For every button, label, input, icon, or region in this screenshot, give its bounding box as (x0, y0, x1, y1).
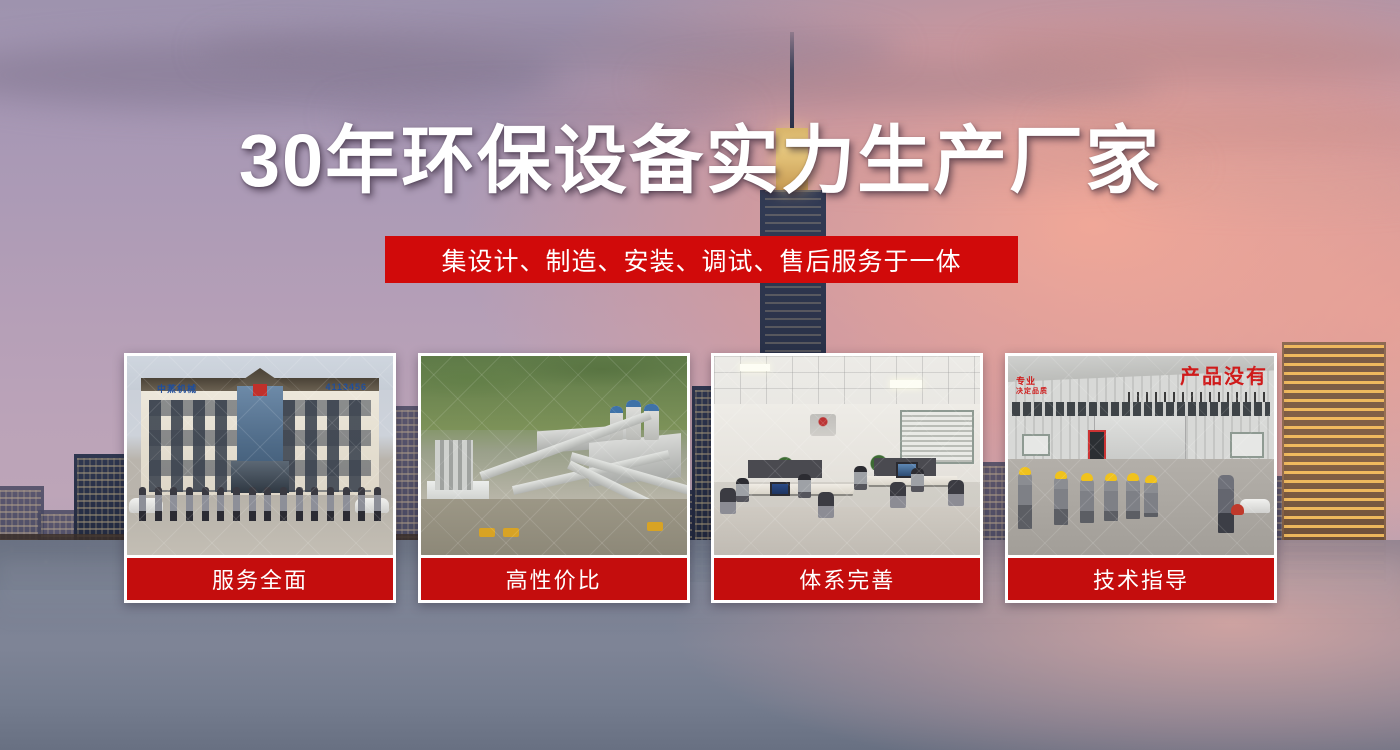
factory-wall-slogan: 产品没有 (1180, 360, 1268, 389)
hero-banner: 30年环保设备实力生产厂家 集设计、制造、安装、调试、售后服务于一体 中蒸机械 … (0, 0, 1400, 750)
office-building-with-staff-photo: 中蒸机械 4113456 (127, 356, 393, 555)
cloud-band (980, 30, 1400, 82)
factory-wall-slogan-tiny: 决定品质 (1016, 386, 1048, 396)
feature-card-row: 中蒸机械 4113456 服务全面 (124, 353, 1277, 603)
building-phone-text: 4113456 (325, 382, 367, 392)
page-title: 30年环保设备实力生产厂家 (0, 124, 1400, 198)
cloud-band (200, 20, 900, 80)
workers-outside-factory-photo: 产品没有 专业 决定品质 (1008, 356, 1274, 555)
tower-spire (790, 32, 794, 128)
cloud-band (640, 60, 1160, 108)
building-sign-text: 中蒸机械 (157, 382, 197, 395)
flag-icon (253, 384, 267, 396)
wall-logo-icon (810, 414, 836, 436)
laptop-icon (770, 482, 790, 496)
cloud-band (0, 40, 560, 110)
feature-card[interactable]: 高性价比 (418, 353, 690, 603)
feature-card[interactable]: 体系完善 (711, 353, 983, 603)
aerial-industrial-plant-photo (421, 356, 687, 555)
card-caption: 体系完善 (714, 555, 980, 600)
red-helmet-icon (1231, 504, 1244, 515)
feature-card[interactable]: 中蒸机械 4113456 服务全面 (124, 353, 396, 603)
card-caption: 技术指导 (1008, 555, 1274, 600)
open-plan-office-photo (714, 356, 980, 555)
subtitle-banner: 集设计、制造、安装、调试、售后服务于一体 (385, 236, 1018, 283)
card-caption: 高性价比 (421, 555, 687, 600)
feature-card[interactable]: 产品没有 专业 决定品质 技术指导 (1005, 353, 1277, 603)
card-caption: 服务全面 (127, 555, 393, 600)
